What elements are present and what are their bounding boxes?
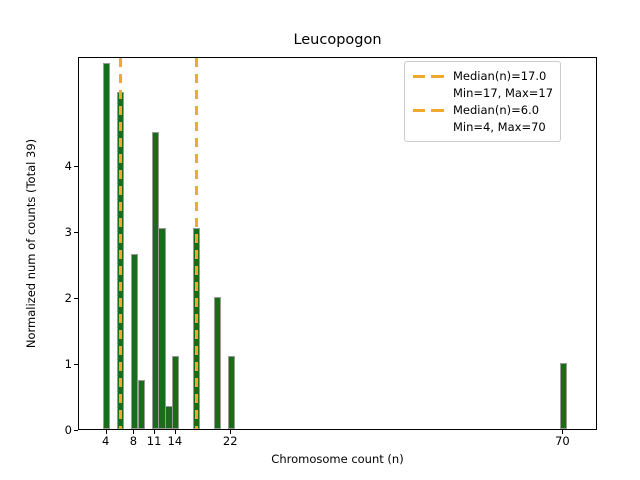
y-tick-mark (74, 232, 78, 233)
y-tick-mark (74, 364, 78, 365)
x-tick-mark (154, 430, 155, 434)
x-tick-mark (230, 430, 231, 434)
x-tick-mark (175, 430, 176, 434)
median-line (195, 58, 198, 429)
y-axis-ticklabels: 01234 (48, 0, 72, 480)
y-tick-label: 1 (50, 358, 72, 370)
median-line (119, 58, 122, 429)
x-tick-label: 8 (130, 435, 137, 448)
y-axis-label: Normalized num of counts (Total 39) (24, 57, 38, 430)
x-tick-label: 14 (168, 435, 183, 448)
y-tick-label: 4 (50, 160, 72, 172)
legend-label: Median(n)=17.0 (453, 69, 546, 83)
chart-figure: Leucopogon Normalized num of counts (Tot… (0, 0, 640, 480)
chart-title: Leucopogon (78, 31, 597, 49)
legend: Median(n)=17.0Min=17, Max=17Median(n)=6.… (404, 61, 561, 142)
x-tick-mark (133, 430, 134, 434)
legend-dashed-line-icon (412, 104, 446, 116)
legend-sublabel: Min=17, Max=17 (412, 84, 553, 101)
x-tick-label: 11 (147, 435, 162, 448)
legend-entry: Median(n)=17.0 (412, 67, 553, 84)
y-tick-mark (74, 298, 78, 299)
x-tick-label: 70 (555, 435, 570, 448)
y-tick-label: 3 (50, 226, 72, 238)
x-tick-label: 4 (102, 435, 109, 448)
legend-sublabel: Min=4, Max=70 (412, 118, 553, 135)
legend-entry: Median(n)=6.0 (412, 101, 553, 118)
y-tick-label: 2 (50, 292, 72, 304)
legend-dashed-line-icon (412, 70, 446, 82)
x-tick-mark (562, 430, 563, 434)
x-tick-label: 22 (223, 435, 238, 448)
y-tick-mark (74, 430, 78, 431)
y-tick-label: 0 (50, 424, 72, 436)
legend-label: Median(n)=6.0 (453, 103, 539, 117)
x-axis-label: Chromosome count (n) (78, 452, 597, 466)
y-tick-mark (74, 166, 78, 167)
x-tick-mark (106, 430, 107, 434)
